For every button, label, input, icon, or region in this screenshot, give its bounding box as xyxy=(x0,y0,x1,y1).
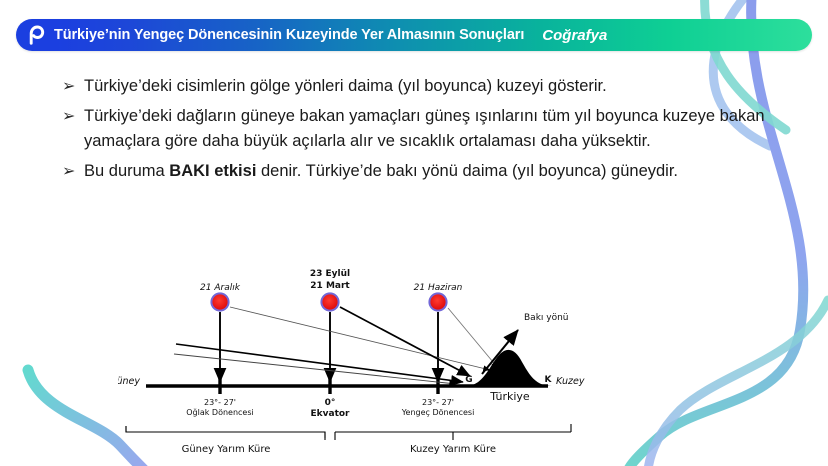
ray-from-21-mart xyxy=(340,307,470,376)
tick-name-ekvator: Ekvator xyxy=(311,409,351,419)
axis-label-kuzey: Kuzey xyxy=(556,376,585,387)
page-title: Türkiye’nin Yengeç Dönencesinin Kuzeyind… xyxy=(54,27,524,43)
ray-from-21-aralik xyxy=(230,307,490,370)
sun-label-21-haziran: 21 Haziran xyxy=(414,283,463,293)
tick-degree-oglak: 23°- 27' xyxy=(204,398,236,407)
bullet-list: ➢ Türkiye’deki cisimlerin gölge yönleri … xyxy=(62,74,774,189)
sun-label-21-aralik: 21 Aralık xyxy=(200,283,241,293)
tick-degree-ekvator: 0° xyxy=(325,398,336,408)
list-item: ➢ Türkiye’deki dağların güneye bakan yam… xyxy=(62,104,774,154)
baki-yonu-label: Bakı yönü xyxy=(524,313,569,323)
list-item: ➢ Türkiye’deki cisimlerin gölge yönleri … xyxy=(62,74,774,99)
ray-long-low-2 xyxy=(174,354,456,384)
slide-title-bar: Türkiye’nin Yengeç Dönencesinin Kuzeyind… xyxy=(16,19,812,51)
slide-canvas: Türkiye’nin Yengeç Dönencesinin Kuzeyind… xyxy=(0,0,828,466)
mountain-turkiye xyxy=(466,350,552,386)
bullet-text-1: Türkiye’deki cisimlerin gölge yönleri da… xyxy=(84,74,774,99)
bullet-arrow-icon: ➢ xyxy=(62,104,84,129)
sun-label-23-eylul: 23 Eylül xyxy=(310,269,350,279)
sun-21-haziran: 21 Haziran xyxy=(414,283,463,382)
sun-icon xyxy=(428,292,447,311)
sun-icon xyxy=(210,292,229,311)
sun-21-aralik: 21 Aralık xyxy=(200,283,241,382)
pin-p-logo-icon xyxy=(24,24,46,46)
ray-from-21-haziran xyxy=(448,308,498,368)
tick-name-oglak: Oğlak Dönencesi xyxy=(186,408,254,417)
axis-label-guney: Güney xyxy=(118,376,140,387)
list-item: ➢ Bu duruma BAKI etkisi denir. Türkiye’d… xyxy=(62,159,774,184)
mountain-label-turkiye: Türkiye xyxy=(489,390,530,403)
sun-label-21-mart: 21 Mart xyxy=(310,281,350,291)
baki-etkisi-emphasis: BAKI etkisi xyxy=(169,162,256,180)
brace-label-kuzey-yarim-kure: Kuzey Yarım Küre xyxy=(410,444,496,455)
tick-name-yengec: Yengeç Dönencesi xyxy=(401,408,475,417)
sun-icon xyxy=(320,292,339,311)
brace-label-guney-yarim-kure: Güney Yarım Küre xyxy=(182,444,271,455)
subject-label: Coğrafya xyxy=(542,27,607,44)
bullet-text-3-post: denir. Türkiye’de bakı yönü daima (yıl b… xyxy=(256,162,678,180)
bullet-text-2: Türkiye’deki dağların güneye bakan yamaç… xyxy=(84,104,774,154)
bullet-arrow-icon: ➢ xyxy=(62,159,84,184)
mountain-slope-k: K xyxy=(545,375,553,385)
yengec-donencesi-baki-diagram: Güney Kuzey 23°- 27' Oğlak Dönencesi 0° … xyxy=(118,258,678,458)
brace-guney-yarim-kure xyxy=(126,426,325,438)
tick-degree-yengec: 23°- 27' xyxy=(422,398,454,407)
bullet-text-3-pre: Bu duruma xyxy=(84,162,169,180)
bullet-text-3: Bu duruma BAKI etkisi denir. Türkiye’de … xyxy=(84,159,774,184)
bullet-arrow-icon: ➢ xyxy=(62,74,84,99)
mountain-slope-g: G xyxy=(465,375,472,385)
